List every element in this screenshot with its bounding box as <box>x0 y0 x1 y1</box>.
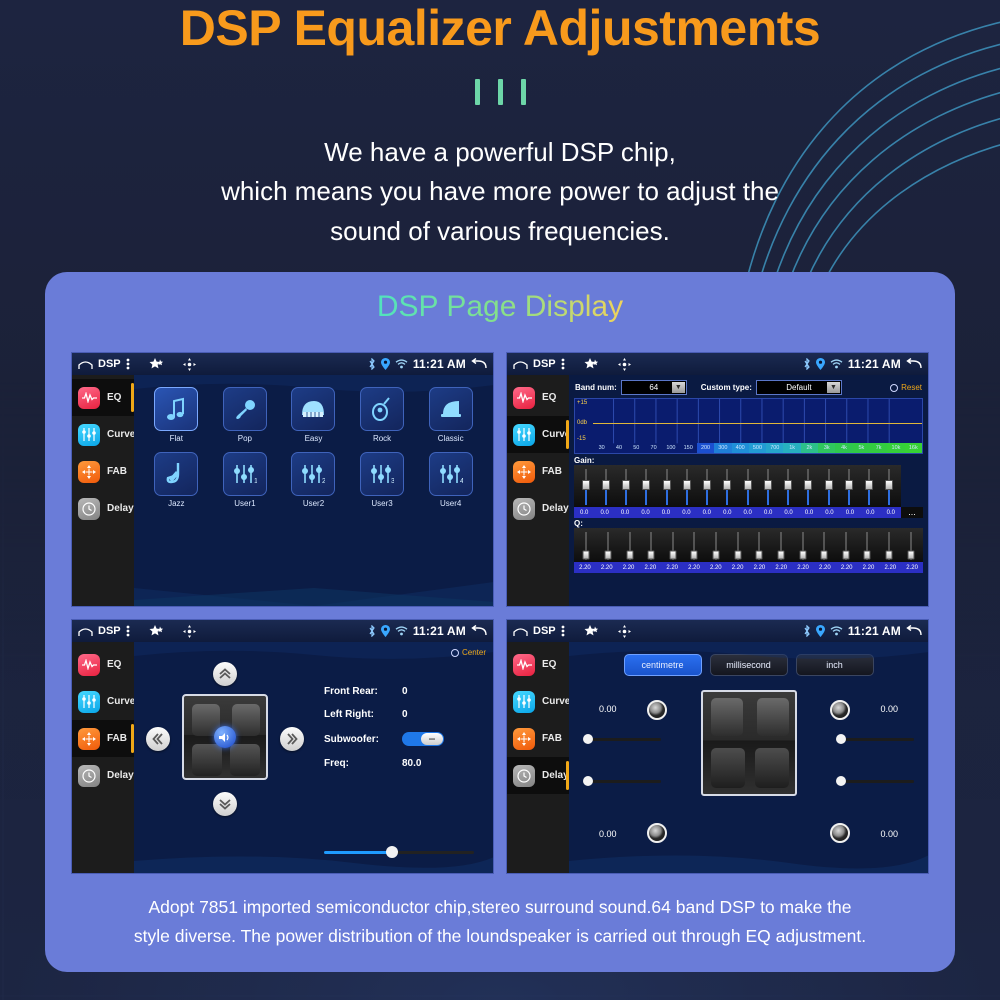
preset-row-1: Flat Pop <box>142 387 485 443</box>
q-label: Q: <box>574 519 923 528</box>
freq-tick: 50 <box>628 443 645 453</box>
freq-tick: 700 <box>766 443 783 453</box>
q-slider <box>900 530 921 562</box>
microphone-icon <box>223 387 267 431</box>
preset-user2[interactable]: 2 User2 <box>289 452 337 508</box>
page-header: DSP Equalizer Adjustments We have a powe… <box>0 0 1000 252</box>
sidebar-label-delay: Delay <box>542 770 569 781</box>
gain-value: 0.0 <box>635 510 655 516</box>
gain-slider <box>657 467 676 507</box>
wifi-icon <box>830 359 843 369</box>
bluetooth-icon <box>368 625 376 637</box>
sidebar-label-fab: FAB <box>107 733 127 744</box>
gain-sliders[interactable] <box>574 465 901 507</box>
bluetooth-icon <box>803 358 811 370</box>
q-value: 2.20 <box>836 565 858 571</box>
back-icon[interactable] <box>471 625 487 637</box>
preset-label: User3 <box>358 499 406 508</box>
back-icon[interactable] <box>906 625 922 637</box>
gain-value: 0.0 <box>717 510 737 516</box>
device-screen-delay: DSP <box>506 619 929 874</box>
delay-slider-rear-right[interactable] <box>836 776 914 786</box>
overflow-menu-icon[interactable] <box>561 358 565 370</box>
sidebar-item-fab[interactable]: FAB <box>72 720 134 757</box>
star-icon[interactable] <box>584 625 599 638</box>
preset-user4[interactable]: 4 User4 <box>427 452 475 508</box>
preset-grid: Flat Pop <box>134 375 493 508</box>
freq-tick: 3k <box>818 443 835 453</box>
subtitle-line-2: which means you have more power to adjus… <box>0 172 1000 212</box>
q-slider <box>771 530 792 562</box>
gain-slider <box>738 467 757 507</box>
q-value: 2.20 <box>574 565 596 571</box>
q-value: 2.20 <box>792 565 814 571</box>
delay-value-front-right: 0.00 <box>880 704 898 714</box>
guitar-icon <box>360 387 404 431</box>
gain-slider <box>860 467 879 507</box>
app-label: DSP <box>98 625 121 637</box>
preset-label: Pop <box>221 434 269 443</box>
overflow-menu-icon[interactable] <box>561 625 565 637</box>
clock-time: 11:21 AM <box>848 357 901 371</box>
freq-tick: 400 <box>732 443 749 453</box>
home-icon[interactable] <box>78 626 93 637</box>
q-value: 2.20 <box>727 565 749 571</box>
device-screen-curve: DSP <box>506 352 929 607</box>
reset-button[interactable]: Reset <box>890 383 922 392</box>
delay-content: centimetre millisecond inch 0.00 <box>569 642 928 874</box>
q-slider <box>727 530 748 562</box>
reset-radio-icon <box>890 384 898 392</box>
clock-time: 11:21 AM <box>848 624 901 638</box>
preset-pop[interactable]: Pop <box>221 387 269 443</box>
sidebar-label-eq: EQ <box>542 659 556 670</box>
bluetooth-icon <box>803 625 811 637</box>
dash-1 <box>475 79 480 105</box>
sliders-1-icon: 1 <box>223 452 267 496</box>
star-icon[interactable] <box>584 358 599 371</box>
preset-flat[interactable]: Flat <box>152 387 200 443</box>
custom-type-dropdown[interactable]: Default ▼ <box>756 380 842 395</box>
gain-slider <box>799 467 818 507</box>
custom-type-value: Default <box>786 383 811 392</box>
q-slider <box>857 530 878 562</box>
sliders-icon <box>513 691 535 713</box>
dash-3 <box>521 79 526 105</box>
delay-slider-rear-left[interactable] <box>583 776 661 786</box>
left-right-value: 0 <box>402 709 408 720</box>
preset-label: User2 <box>289 499 337 508</box>
screen-body: EQ Curve FAB <box>72 642 493 874</box>
screen-body: EQ Curve FAB <box>72 375 493 607</box>
freq-tick: 40 <box>610 443 627 453</box>
preset-row-2: Jazz 1 User1 2 <box>142 452 485 508</box>
freq-tick: 7k <box>870 443 887 453</box>
gain-value: 0.0 <box>840 510 860 516</box>
q-section: Q: <box>569 518 928 573</box>
dsp-showcase-card: DSP Page Display DSP <box>45 272 955 972</box>
freq-tick: 100 <box>662 443 679 453</box>
sidebar-item-delay[interactable]: Delay <box>507 490 569 527</box>
sidebar-item-eq[interactable]: EQ <box>507 646 569 683</box>
fader-balance-icon <box>513 728 535 750</box>
preset-user1[interactable]: 1 User1 <box>221 452 269 508</box>
move-icon[interactable] <box>183 625 196 638</box>
device-screen-eq: DSP <box>71 352 494 607</box>
gain-value: 0.0 <box>574 510 594 516</box>
freq-tick: 200 <box>697 443 714 453</box>
sidebar-curve: EQ Curve FAB <box>507 375 569 607</box>
dash-2 <box>498 79 503 105</box>
sidebar-label-curve: Curve <box>107 696 135 707</box>
preset-easy[interactable]: Easy <box>289 387 337 443</box>
wave-decor-top <box>134 642 493 668</box>
gain-slider <box>596 467 615 507</box>
subtitle-line-3: sound of various frequencies. <box>0 212 1000 252</box>
subwoofer-label: Subwoofer: <box>324 734 392 745</box>
freq-tick: 16k <box>905 443 922 453</box>
preset-label: Easy <box>289 434 337 443</box>
sidebar-item-curve[interactable]: Curve <box>507 416 569 453</box>
screen-body: EQ Curve FAB <box>507 375 928 607</box>
overflow-menu-icon[interactable] <box>126 625 130 637</box>
equalizer-wave-icon <box>513 387 535 409</box>
page-title: DSP Equalizer Adjustments <box>0 2 1000 55</box>
left-right-label: Left Right: <box>324 709 392 720</box>
preset-label: User4 <box>427 499 475 508</box>
move-up-button[interactable] <box>213 662 237 686</box>
preset-rock[interactable]: Rock <box>358 387 406 443</box>
sidebar-label-curve: Curve <box>107 429 135 440</box>
wave-decor-bottom <box>569 815 928 874</box>
home-icon[interactable] <box>513 626 528 637</box>
sidebar-fab: EQ Curve FAB <box>72 642 134 874</box>
gain-value: 0.0 <box>758 510 778 516</box>
location-icon <box>381 358 390 370</box>
overflow-menu-icon[interactable] <box>126 358 130 370</box>
location-icon <box>816 358 825 370</box>
location-icon <box>816 625 825 637</box>
q-slider <box>598 530 619 562</box>
sliders-4-icon: 4 <box>429 452 473 496</box>
gain-slider <box>779 467 798 507</box>
wave-decor-bottom <box>134 548 493 607</box>
q-slider <box>663 530 684 562</box>
q-value: 2.20 <box>879 565 901 571</box>
sidebar-item-delay[interactable]: Delay <box>507 757 569 794</box>
gain-slider <box>880 467 899 507</box>
wave-decor-bottom <box>134 815 493 874</box>
sidebar-label-delay: Delay <box>107 503 134 514</box>
q-value: 2.20 <box>596 565 618 571</box>
freq-tick: 2k <box>801 443 818 453</box>
chevron-down-icon: ▼ <box>827 382 840 393</box>
sidebar-item-curve[interactable]: Curve <box>507 683 569 720</box>
wifi-icon <box>395 626 408 636</box>
sidebar-item-delay[interactable]: Delay <box>72 490 134 527</box>
svg-text:2: 2 <box>322 478 325 485</box>
sliders-2-icon: 2 <box>291 452 335 496</box>
status-bar: DSP <box>72 620 493 642</box>
car-cabin-image[interactable] <box>182 694 268 780</box>
equalizer-wave-icon <box>513 654 535 676</box>
freq-value: 80.0 <box>402 758 421 769</box>
saxophone-icon <box>154 452 198 496</box>
sliders-3-icon: 3 <box>360 452 404 496</box>
gain-slider <box>698 467 717 507</box>
band-num-label: Band num: <box>575 383 617 392</box>
gain-value: 0.0 <box>778 510 798 516</box>
gain-section: Gain: <box>569 454 928 518</box>
app-label: DSP <box>98 358 121 370</box>
speaker-front-left-icon[interactable] <box>647 700 667 720</box>
band-num-value: 64 <box>649 383 658 392</box>
q-values: 2.20 2.20 2.20 2.20 2.20 2.20 2.20 2.20 … <box>574 562 923 573</box>
sidebar-label-eq: EQ <box>542 392 556 403</box>
equalizer-wave-icon <box>78 654 100 676</box>
gain-slider <box>819 467 838 507</box>
preset-user3[interactable]: 3 User3 <box>358 452 406 508</box>
bluetooth-icon <box>368 358 376 370</box>
move-icon[interactable] <box>618 358 631 371</box>
center-label: Center <box>462 648 486 657</box>
gain-value: 0.0 <box>594 510 614 516</box>
q-slider <box>814 530 835 562</box>
footer-line-1: Adopt 7851 imported semiconductor chip,s… <box>73 893 927 921</box>
move-right-button[interactable] <box>280 727 304 751</box>
delay-value-front-left: 0.00 <box>599 704 617 714</box>
sidebar-item-fab[interactable]: FAB <box>72 453 134 490</box>
preset-label: Flat <box>152 434 200 443</box>
wave-decor-top <box>569 642 928 668</box>
sidebar-eq: EQ Curve FAB <box>72 375 134 607</box>
toggle-knob: ▬ <box>421 733 443 745</box>
freq-tick: 30 <box>593 443 610 453</box>
preset-label: Classic <box>427 434 475 443</box>
sidebar-item-eq[interactable]: EQ <box>72 646 134 683</box>
back-icon[interactable] <box>906 358 922 370</box>
front-rear-row: Front Rear: 0 <box>324 686 444 697</box>
fab-readouts: Front Rear: 0 Left Right: 0 Subwoofer: ▬ <box>324 686 444 781</box>
freq-tick: 150 <box>680 443 697 453</box>
sidebar-delay: EQ Curve FAB <box>507 642 569 874</box>
freq-tick: 500 <box>749 443 766 453</box>
q-slider <box>641 530 662 562</box>
q-value: 2.20 <box>705 565 727 571</box>
speaker-position-marker <box>214 726 236 748</box>
gain-value: 0.0 <box>819 510 839 516</box>
sliders-icon <box>513 424 535 446</box>
axis-label-top: +15 <box>577 400 587 406</box>
q-value: 2.20 <box>639 565 661 571</box>
sidebar-item-fab[interactable]: FAB <box>507 453 569 490</box>
q-value: 2.20 <box>683 565 705 571</box>
q-slider <box>749 530 770 562</box>
front-rear-value: 0 <box>402 686 408 697</box>
delay-slider-front-left[interactable] <box>583 734 661 744</box>
chevron-down-icon: ▼ <box>672 382 685 393</box>
sidebar-item-curve[interactable]: Curve <box>72 416 134 453</box>
subtitle-line-1: We have a powerful DSP chip, <box>0 133 1000 173</box>
eq-curve-chart[interactable]: +15 0db -15 30 40 50 70 100 150 200 30 <box>574 398 923 454</box>
preset-jazz[interactable]: Jazz <box>152 452 200 508</box>
card-title: DSP Page Display <box>45 272 955 324</box>
delay-slider-front-right[interactable] <box>836 734 914 744</box>
curve-content: Band num: 64 ▼ Custom type: Default ▼ <box>569 375 928 607</box>
freq-tick: 70 <box>645 443 662 453</box>
center-radio-icon <box>451 649 459 657</box>
freq-tick: 1k <box>783 443 800 453</box>
freq-label: Freq: <box>324 758 392 769</box>
preset-label: Jazz <box>152 499 200 508</box>
q-slider <box>576 530 597 562</box>
svg-text:1: 1 <box>254 478 257 485</box>
piano-icon <box>291 387 335 431</box>
sidebar-label-eq: EQ <box>107 659 121 670</box>
sidebar-label-fab: FAB <box>542 733 562 744</box>
q-slider <box>619 530 640 562</box>
q-value: 2.20 <box>814 565 836 571</box>
freq-tick: 4k <box>835 443 852 453</box>
status-bar: DSP <box>507 353 928 375</box>
move-icon[interactable] <box>183 358 196 371</box>
gain-values: 0.0 0.0 0.0 0.0 0.0 0.0 0.0 0.0 0.0 0. <box>574 507 901 518</box>
preset-classic[interactable]: Classic <box>427 387 475 443</box>
band-num-dropdown[interactable]: 64 ▼ <box>621 380 687 395</box>
svg-text:3: 3 <box>391 478 394 485</box>
custom-type-label: Custom type: <box>701 383 752 392</box>
fab-content: Center <box>134 642 493 874</box>
wifi-icon <box>395 359 408 369</box>
sidebar-item-curve[interactable]: Curve <box>72 683 134 720</box>
preset-label: User1 <box>221 499 269 508</box>
fader-balance-icon <box>78 461 100 483</box>
move-down-button[interactable] <box>213 792 237 816</box>
svg-text:4: 4 <box>460 478 463 485</box>
app-label: DSP <box>533 358 556 370</box>
gain-value: 0.0 <box>615 510 635 516</box>
gain-slider <box>677 467 696 507</box>
star-icon[interactable] <box>149 358 164 371</box>
q-slider <box>879 530 900 562</box>
q-sliders[interactable] <box>574 528 923 562</box>
gain-overflow-indicator[interactable]: ... <box>901 507 923 518</box>
gain-slider <box>617 467 636 507</box>
screenshot-grid: DSP <box>71 352 929 874</box>
clock-icon <box>513 498 535 520</box>
eq-presets-content: Flat Pop <box>134 375 493 607</box>
sidebar-label-fab: FAB <box>107 466 127 477</box>
front-rear-label: Front Rear: <box>324 686 392 697</box>
q-value: 2.20 <box>770 565 792 571</box>
clock-icon <box>513 765 535 787</box>
sidebar-label-fab: FAB <box>542 466 562 477</box>
zero-db-line <box>593 423 922 424</box>
app-label: DSP <box>533 625 556 637</box>
status-bar: DSP <box>72 353 493 375</box>
sidebar-item-eq[interactable]: EQ <box>72 379 134 416</box>
car-cabin-image[interactable] <box>701 690 797 796</box>
clock-time: 11:21 AM <box>413 357 466 371</box>
q-value: 2.20 <box>901 565 923 571</box>
sidebar-item-delay[interactable]: Delay <box>72 757 134 794</box>
clock-icon <box>78 498 100 520</box>
subwoofer-row: Subwoofer: ▬ <box>324 732 444 746</box>
move-icon[interactable] <box>618 625 631 638</box>
gain-value: 0.0 <box>656 510 676 516</box>
axis-label-bottom: -15 <box>577 436 586 442</box>
sliders-icon <box>78 424 100 446</box>
card-footer-text: Adopt 7851 imported semiconductor chip,s… <box>73 893 927 950</box>
gain-value: 0.0 <box>881 510 901 516</box>
q-value: 2.20 <box>749 565 771 571</box>
freq-tick: 10k <box>887 443 904 453</box>
gain-slider <box>576 467 595 507</box>
gain-label: Gain: <box>574 456 923 465</box>
freq-tick: 5k <box>853 443 870 453</box>
clock-time: 11:21 AM <box>413 624 466 638</box>
harp-icon <box>429 387 473 431</box>
sliders-icon <box>78 691 100 713</box>
freq-tick: 300 <box>714 443 731 453</box>
music-note-icon <box>154 387 198 431</box>
move-left-button[interactable] <box>146 727 170 751</box>
sidebar-label-curve: Curve <box>542 429 570 440</box>
gain-value: 0.0 <box>738 510 758 516</box>
status-bar: DSP <box>507 620 928 642</box>
gain-value: 0.0 <box>697 510 717 516</box>
location-icon <box>381 625 390 637</box>
q-slider <box>706 530 727 562</box>
footer-line-2: style diverse. The power distribution of… <box>73 922 927 950</box>
page-subtitle: We have a powerful DSP chip, which means… <box>0 133 1000 252</box>
center-toggle[interactable]: Center <box>451 648 486 657</box>
fader-balance-icon <box>78 728 100 750</box>
speaker-front-right-icon[interactable] <box>830 700 850 720</box>
freq-row: Freq: 80.0 <box>324 758 444 769</box>
divider-dashes <box>0 79 1000 105</box>
clock-icon <box>78 765 100 787</box>
gain-slider <box>718 467 737 507</box>
curve-toolbar: Band num: 64 ▼ Custom type: Default ▼ <box>569 375 928 398</box>
q-slider <box>836 530 857 562</box>
fader-balance-icon <box>513 461 535 483</box>
back-icon[interactable] <box>471 358 487 370</box>
sidebar-label-curve: Curve <box>542 696 570 707</box>
home-icon[interactable] <box>78 359 93 370</box>
q-value: 2.20 <box>858 565 880 571</box>
gain-slider <box>839 467 858 507</box>
home-icon[interactable] <box>513 359 528 370</box>
gain-value: 0.0 <box>860 510 880 516</box>
sidebar-label-eq: EQ <box>107 392 121 403</box>
gain-slider <box>637 467 656 507</box>
reset-label: Reset <box>901 383 922 392</box>
gain-value: 0.0 <box>799 510 819 516</box>
equalizer-wave-icon <box>78 387 100 409</box>
axis-label-mid: 0db <box>577 420 587 426</box>
left-right-row: Left Right: 0 <box>324 709 444 720</box>
preset-label: Rock <box>358 434 406 443</box>
subwoofer-toggle[interactable]: ▬ <box>402 732 444 746</box>
star-icon[interactable] <box>149 625 164 638</box>
sidebar-item-fab[interactable]: FAB <box>507 720 569 757</box>
device-screen-fab: DSP <box>71 619 494 874</box>
sidebar-label-delay: Delay <box>542 503 569 514</box>
q-value: 2.20 <box>618 565 640 571</box>
sidebar-item-eq[interactable]: EQ <box>507 379 569 416</box>
screen-body: EQ Curve FAB <box>507 642 928 874</box>
